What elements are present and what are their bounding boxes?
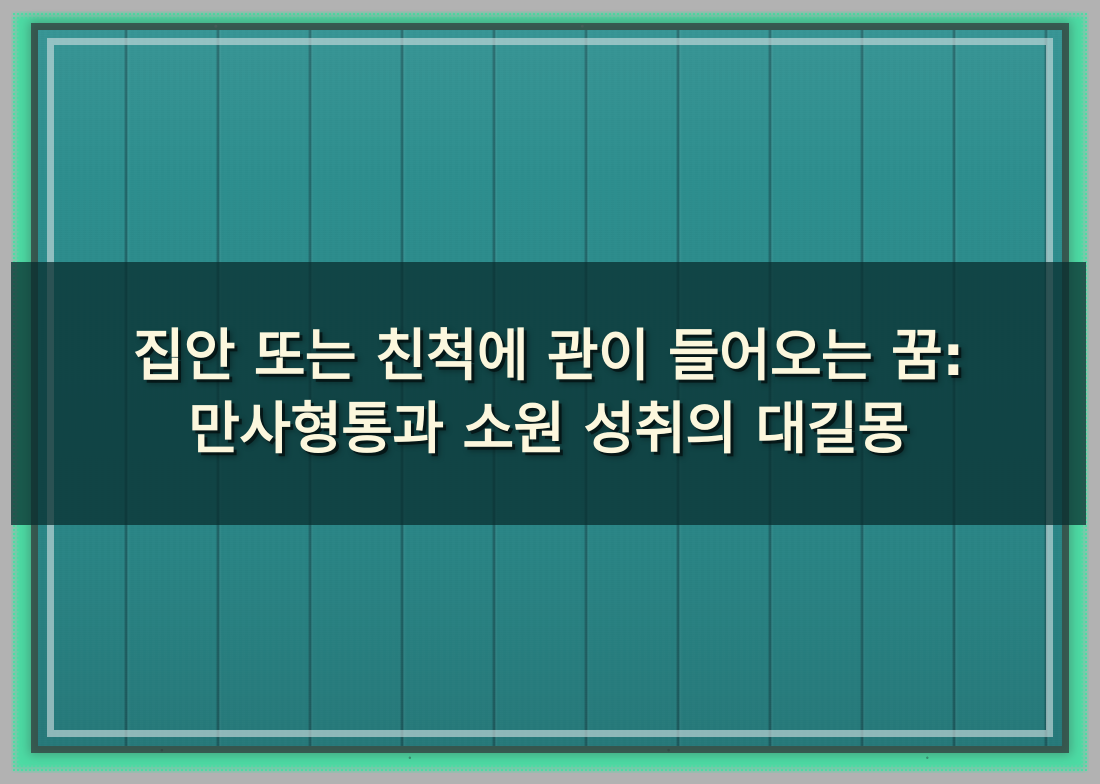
thumbnail-card: 집안 또는 친척에 관이 들어오는 꿈: 만사형통과 소원 성취의 대길몽 [0,0,1100,784]
title-overlay-band: 집안 또는 친척에 관이 들어오는 꿈: 만사형통과 소원 성취의 대길몽 [11,262,1086,525]
page-title: 집안 또는 친척에 관이 들어오는 꿈: 만사형통과 소원 성취의 대길몽 [81,321,1016,467]
